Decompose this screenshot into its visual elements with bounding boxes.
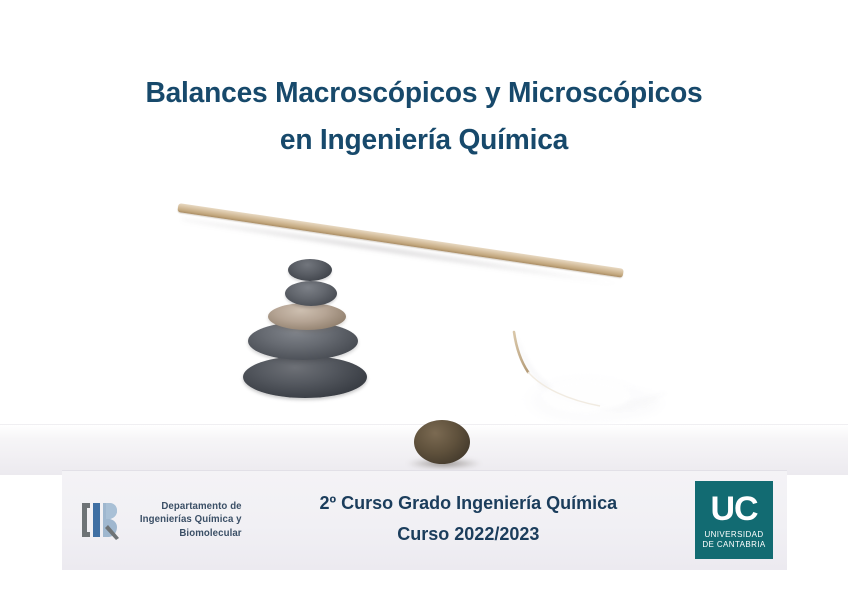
course-line-1: 2º Curso Grado Ingeniería Química: [242, 488, 695, 519]
stone-top: [288, 259, 332, 281]
fulcrum-pebble: [414, 420, 470, 464]
dept-monogram-icon: [78, 499, 122, 541]
title-line-1: Balances Macroscópicos y Microscópicos: [13, 70, 836, 117]
course-info: 2º Curso Grado Ingeniería Química Curso …: [242, 488, 695, 552]
dept-line-1: Departamento de: [161, 500, 241, 512]
course-line-2: Curso 2022/2023: [242, 519, 695, 550]
white-feather: [490, 330, 680, 450]
footer-content: Departamento de Ingenierías Química y Bi…: [62, 470, 787, 570]
uc-monogram: UC: [710, 492, 757, 526]
stone-tan: [268, 303, 346, 330]
university-of-cantabria-logo: UC UNIVERSIDAD DE CANTABRIA: [695, 481, 773, 559]
department-logo: Departamento de Ingenierías Química y Bi…: [78, 499, 242, 541]
uc-subtitle-line-1: UNIVERSIDAD: [704, 530, 763, 539]
title-line-2: en Ingeniería Química: [13, 117, 836, 164]
footer-panel: Departamento de Ingenierías Química y Bi…: [62, 470, 787, 570]
dept-line-3: Biomolecular: [179, 527, 241, 539]
page-title: Balances Macroscópicos y Microscópicos e…: [0, 70, 848, 164]
uc-subtitle: UNIVERSIDAD DE CANTABRIA: [702, 530, 765, 550]
stone-second: [285, 281, 337, 306]
title-slide: Balances Macroscópicos y Microscópicos e…: [0, 0, 848, 599]
stone-bottom: [243, 356, 367, 398]
uc-subtitle-line-2: DE CANTABRIA: [702, 540, 765, 549]
dept-line-2: Ingenierías Química y: [140, 513, 242, 525]
department-logo-text: Departamento de Ingenierías Química y Bi…: [140, 500, 242, 541]
